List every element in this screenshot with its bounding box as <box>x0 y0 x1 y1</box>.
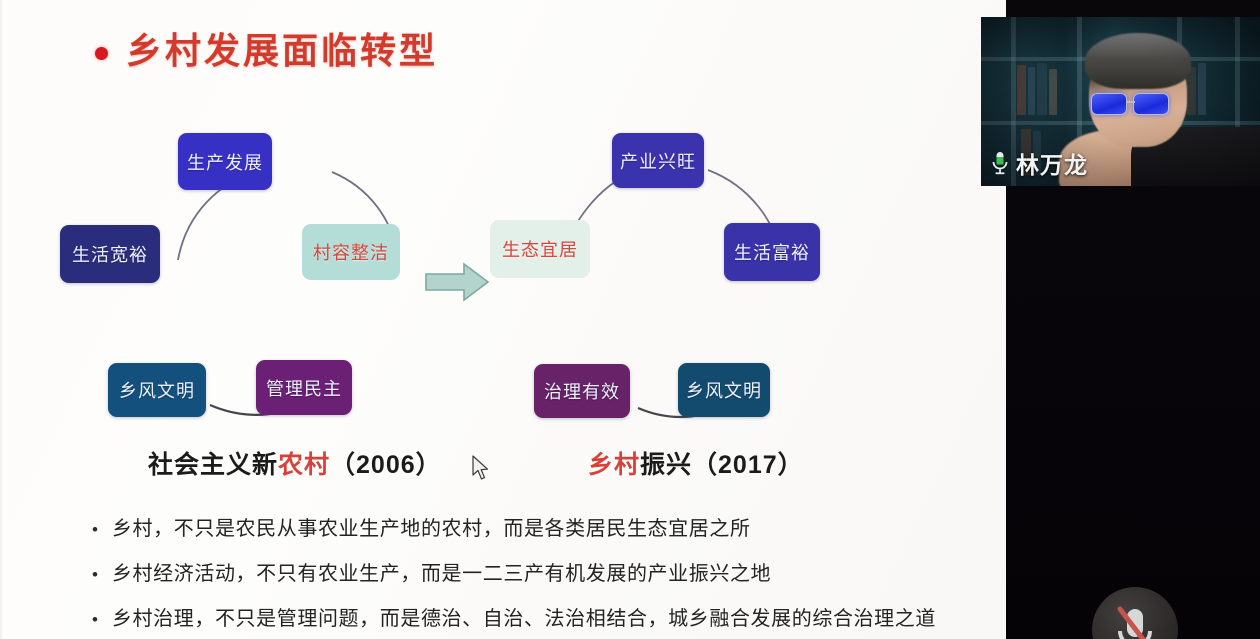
node-label: 管理民主 <box>266 375 342 401</box>
node-label: 村容整洁 <box>313 239 389 265</box>
bullet-marker: • <box>92 521 98 538</box>
bullet-text: 乡村经济活动，不只有农业生产，而是一二三产有机发展的产业振兴之地 <box>112 557 771 586</box>
node-label: 生态宜居 <box>502 236 578 262</box>
title-bullet-icon <box>95 47 108 60</box>
left-cycle-diagram: 生产发展 生活宽裕 村容整洁 乡风文明 管理民主 <box>40 120 440 440</box>
slide-bullet-list: • 乡村，不只是农民从事农业生产地的农村，而是各类居民生态宜居之所 • 乡村经济… <box>92 512 992 639</box>
node-shengchanfazhan[interactable]: 生产发展 <box>178 133 272 190</box>
meeting-screen-share-view: 乡村发展面临转型 生产发展 生活宽裕 村容整洁 乡风文明 <box>0 0 1260 639</box>
microphone-on-icon <box>989 150 1011 176</box>
participant-name: 林万龙 <box>1016 146 1088 180</box>
right-diagram-caption: 乡村振兴（2017） <box>588 445 804 481</box>
node-label: 生活富裕 <box>734 239 810 265</box>
node-label: 乡风文明 <box>119 377 195 403</box>
list-item: • 乡村治理，不只是管理问题，而是德治、自治、法治相结合，城乡融合发展的综合治理… <box>92 602 992 631</box>
microphone-muted-icon <box>1112 605 1158 639</box>
participant-video-tile[interactable]: 林万龙 <box>981 17 1260 186</box>
node-label: 生产发展 <box>187 149 263 175</box>
node-cunrongzhengjie[interactable]: 村容整洁 <box>302 224 400 280</box>
node-shenghuofuyu[interactable]: 生活富裕 <box>724 223 820 281</box>
slide-title-row: 乡村发展面临转型 <box>95 22 438 74</box>
node-xiangfengwenming[interactable]: 乡风文明 <box>108 363 206 417</box>
node-shengtaiyiju[interactable]: 生态宜居 <box>490 220 590 278</box>
mouse-cursor-icon <box>472 455 490 481</box>
node-zhiliyouxiao[interactable]: 治理有效 <box>534 364 630 418</box>
caption-highlight: 乡村 <box>588 450 640 479</box>
caption-year: 振兴（2017） <box>640 451 804 479</box>
caption-prefix: 社会主义新 <box>148 450 278 479</box>
participant-name-badge: 林万龙 <box>989 146 1088 180</box>
caption-year: （2006） <box>330 451 442 479</box>
node-label: 生活宽裕 <box>72 241 148 267</box>
bullet-marker: • <box>92 566 98 583</box>
left-diagram-caption: 社会主义新农村（2006） <box>148 445 442 481</box>
bullet-text: 乡村，不只是农民从事农业生产地的农村，而是各类居民生态宜居之所 <box>112 512 751 541</box>
right-cycle-diagram: 产业兴旺 生态宜居 生活富裕 治理有效 乡风文明 <box>470 120 860 440</box>
node-label: 乡风文明 <box>686 377 762 403</box>
list-item: • 乡村经济活动，不只有农业生产，而是一二三产有机发展的产业振兴之地 <box>92 557 992 586</box>
list-item: • 乡村，不只是农民从事农业生产地的农村，而是各类居民生态宜居之所 <box>92 512 992 541</box>
node-label: 产业兴旺 <box>620 148 696 174</box>
node-label: 治理有效 <box>544 378 620 404</box>
node-xiangfengwenming-right[interactable]: 乡风文明 <box>678 363 770 417</box>
bullet-text: 乡村治理，不只是管理问题，而是德治、自治、法治相结合，城乡融合发展的综合治理之道 <box>112 602 936 631</box>
shared-slide: 乡村发展面临转型 生产发展 生活宽裕 村容整洁 乡风文明 <box>0 0 1006 639</box>
bullet-marker: • <box>92 611 98 628</box>
caption-highlight: 农村 <box>278 450 330 479</box>
node-shenghuokuanyu[interactable]: 生活宽裕 <box>60 225 160 283</box>
page-title: 乡村发展面临转型 <box>126 22 438 74</box>
node-guanliminzhu[interactable]: 管理民主 <box>256 360 352 415</box>
node-chanyexingwang[interactable]: 产业兴旺 <box>612 133 704 188</box>
